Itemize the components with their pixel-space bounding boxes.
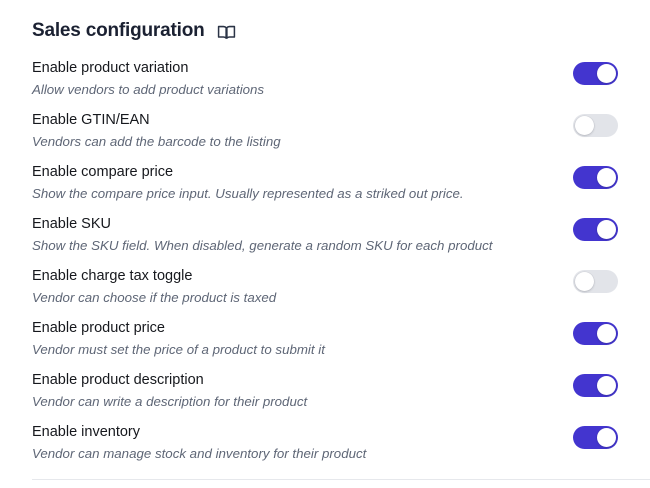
setting-row-inventory: Enable inventory Vendor can manage stock… <box>32 421 618 473</box>
setting-texts: Enable SKU Show the SKU field. When disa… <box>32 213 492 256</box>
setting-texts: Enable product description Vendor can wr… <box>32 369 307 412</box>
setting-label: Enable charge tax toggle <box>32 266 276 287</box>
setting-row-gtin-ean: Enable GTIN/EAN Vendors can add the barc… <box>32 109 618 161</box>
sales-configuration-panel: Sales configuration Enable product varia… <box>0 0 650 488</box>
toggle-product-description[interactable] <box>573 374 618 397</box>
setting-label: Enable SKU <box>32 214 492 235</box>
toggle-gtin-ean[interactable] <box>573 114 618 137</box>
setting-row-charge-tax-toggle: Enable charge tax toggle Vendor can choo… <box>32 265 618 317</box>
setting-description: Vendor must set the price of a product t… <box>32 340 325 360</box>
setting-texts: Enable product variation Allow vendors t… <box>32 57 264 100</box>
toggle-knob <box>597 168 616 187</box>
setting-label: Enable inventory <box>32 422 366 443</box>
setting-row-product-price: Enable product price Vendor must set the… <box>32 317 618 369</box>
settings-list: Enable product variation Allow vendors t… <box>0 57 650 473</box>
setting-texts: Enable GTIN/EAN Vendors can add the barc… <box>32 109 281 152</box>
toggle-knob <box>597 324 616 343</box>
toggle-product-variation[interactable] <box>573 62 618 85</box>
toggle-charge-tax[interactable] <box>573 270 618 293</box>
toggle-sku[interactable] <box>573 218 618 241</box>
setting-label: Enable GTIN/EAN <box>32 110 281 131</box>
toggle-knob <box>597 64 616 83</box>
setting-description: Vendor can write a description for their… <box>32 392 307 412</box>
setting-row-compare-price: Enable compare price Show the compare pr… <box>32 161 618 213</box>
setting-texts: Enable charge tax toggle Vendor can choo… <box>32 265 276 308</box>
setting-label: Enable compare price <box>32 162 464 183</box>
setting-description: Vendor can choose if the product is taxe… <box>32 288 276 308</box>
toggle-knob <box>597 428 616 447</box>
setting-texts: Enable inventory Vendor can manage stock… <box>32 421 366 464</box>
panel-header: Sales configuration <box>0 0 650 48</box>
setting-label: Enable product price <box>32 318 325 339</box>
setting-row-product-variation: Enable product variation Allow vendors t… <box>32 57 618 109</box>
setting-row-product-description: Enable product description Vendor can wr… <box>32 369 618 421</box>
setting-description: Vendors can add the barcode to the listi… <box>32 132 281 152</box>
footer-divider <box>32 479 650 480</box>
book-icon[interactable] <box>217 23 237 43</box>
toggle-knob <box>575 272 594 291</box>
setting-label: Enable product description <box>32 370 307 391</box>
toggle-knob <box>597 220 616 239</box>
setting-description: Allow vendors to add product variations <box>32 80 264 100</box>
setting-texts: Enable compare price Show the compare pr… <box>32 161 464 204</box>
toggle-knob <box>575 116 594 135</box>
setting-description: Vendor can manage stock and inventory fo… <box>32 444 366 464</box>
toggle-inventory[interactable] <box>573 426 618 449</box>
setting-label: Enable product variation <box>32 58 264 79</box>
setting-description: Show the compare price input. Usually re… <box>32 184 464 204</box>
page-title: Sales configuration <box>32 18 205 44</box>
setting-texts: Enable product price Vendor must set the… <box>32 317 325 360</box>
setting-description: Show the SKU field. When disabled, gener… <box>32 236 492 256</box>
toggle-knob <box>597 376 616 395</box>
setting-row-sku: Enable SKU Show the SKU field. When disa… <box>32 213 618 265</box>
toggle-compare-price[interactable] <box>573 166 618 189</box>
toggle-product-price[interactable] <box>573 322 618 345</box>
